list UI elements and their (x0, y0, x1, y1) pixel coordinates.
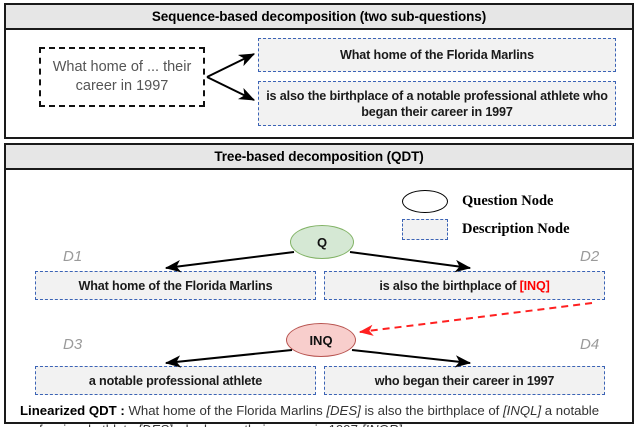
description-node-d3: a notable professional athlete (35, 366, 316, 395)
description-node-d4: who began their career in 1997 (324, 366, 605, 395)
sub-question-text-1: What home of the Florida Marlins (340, 47, 534, 63)
linearized-segment: who began their career in 1997 (172, 422, 361, 427)
legend-label-description-node: Description Node (462, 221, 570, 238)
source-question-box: What home of ... their career in 1997 (39, 47, 205, 107)
sequence-panel-title: Sequence-based decomposition (two sub-qu… (152, 9, 486, 24)
arrow-inq-to-d3 (166, 350, 292, 363)
arrow-to-subq-2 (207, 77, 254, 100)
linearized-segment: is also the birthplace of (361, 403, 503, 418)
linearized-token: [INQR] (362, 422, 402, 427)
description-node-d2-prefix: is also the birthplace of (379, 279, 519, 293)
sequence-panel-body: What home of ... their career in 1997 Wh… (6, 30, 632, 137)
source-question-text: What home of ... their career in 1997 (41, 58, 203, 96)
linearized-token: [INQL] (503, 403, 541, 418)
linearized-token: [DES] (138, 422, 172, 427)
tree-panel-body: Question Node Description Node Q D1 D2 W… (6, 170, 632, 422)
sequence-panel: Sequence-based decomposition (two sub-qu… (4, 3, 634, 139)
question-node-q-label: Q (317, 235, 327, 250)
tree-panel: Tree-based decomposition (QDT) Question … (4, 143, 634, 424)
ellipse-icon (402, 190, 448, 213)
tree-panel-header: Tree-based decomposition (QDT) (6, 145, 632, 170)
arrow-inq-to-d4 (352, 350, 470, 363)
linearized-qdt-label: Linearized QDT : (20, 403, 125, 418)
legend-row-question-node: Question Node (402, 190, 553, 213)
arrow-inq-reference (360, 303, 592, 332)
linearized-qdt: Linearized QDT : What home of the Florid… (20, 401, 622, 427)
sub-question-box-2: is also the birthplace of a notable prof… (258, 81, 616, 126)
question-node-inq: INQ (286, 323, 356, 357)
description-node-d2-text: is also the birthplace of [INQ] (379, 278, 549, 294)
description-tag-d4: D4 (580, 336, 599, 353)
description-tag-d3: D3 (63, 336, 82, 353)
description-tag-d2: D2 (580, 248, 599, 265)
description-tag-d1: D1 (63, 248, 82, 265)
tree-panel-title: Tree-based decomposition (QDT) (214, 149, 423, 164)
arrow-q-to-d2 (350, 252, 470, 268)
description-node-d2: is also the birthplace of [INQ] (324, 271, 605, 300)
linearized-token: [DES] (326, 403, 360, 418)
arrow-to-subq-1 (207, 54, 254, 77)
arrow-q-to-d1 (166, 252, 294, 268)
qdt-figure: Sequence-based decomposition (two sub-qu… (0, 0, 640, 427)
sequence-panel-header: Sequence-based decomposition (two sub-qu… (6, 5, 632, 30)
linearized-segment: What home of the Florida Marlins (125, 403, 327, 418)
description-node-d1-text: What home of the Florida Marlins (79, 278, 273, 294)
question-node-inq-label: INQ (309, 333, 332, 348)
sub-question-text-2: is also the birthplace of a notable prof… (265, 88, 609, 120)
inq-placeholder-tag: [INQ] (520, 279, 550, 293)
sub-question-box-1: What home of the Florida Marlins (258, 38, 616, 72)
question-node-q: Q (290, 225, 354, 259)
description-node-d4-text: who began their career in 1997 (375, 373, 555, 389)
legend-row-description-node: Description Node (402, 219, 570, 240)
description-node-d1: What home of the Florida Marlins (35, 271, 316, 300)
description-node-d3-text: a notable professional athlete (89, 373, 262, 389)
dashed-rect-icon (402, 219, 448, 240)
legend-label-question-node: Question Node (462, 193, 553, 210)
